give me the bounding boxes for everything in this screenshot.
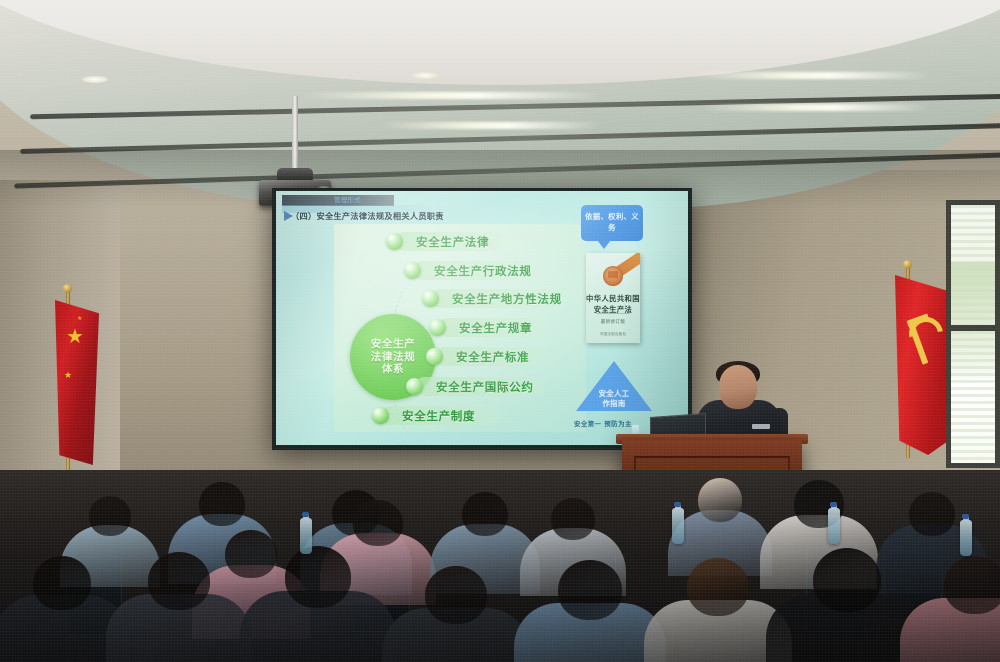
projector-mount-pole [292,96,298,174]
ceiling-light-strip [690,72,930,79]
bottle-cap [962,514,969,519]
lecture-room-scene: 管理形式 （四）安全生产法律法规及相关人员职责 安全生产 法律法规 体系 安全生… [0,0,1000,662]
slide-callout-bubble: 依据、权利、义务 [581,205,643,241]
audience-person-head [687,558,749,616]
triangle-line-1: 安全人工 [578,389,650,399]
audience-person [240,546,396,662]
flagpole-finial-left [63,284,72,293]
ceiling-light-strip [700,104,930,111]
audience-person-head [558,560,622,620]
slide-list-item: 安全生产国际公约 [406,376,534,397]
slide-list-item: 安全生产地方性法规 [422,288,562,309]
bottle-cap [302,512,309,517]
speaker-head [719,365,757,409]
flag-star-large-icon: ★ [66,326,84,346]
bullet-icon [406,378,423,395]
item-label: 安全生产地方性法规 [452,291,562,307]
audience-person [382,566,530,662]
window-blinds [951,205,995,463]
safety-law-book-image: 中华人民共和国 安全生产法 最新修订版 中国法制出版社 [586,253,640,343]
audience-person-head [33,556,91,610]
slide-triangle-label: 安全人工 作指南 [578,389,650,409]
item-label: 安全生产标准 [456,349,529,365]
audience-person [106,552,252,662]
flagpole-finial-right [903,260,912,269]
item-label: 安全生产法律 [416,234,489,250]
slide-list-item: 安全生产法律 [386,231,489,252]
audience-person-head [425,566,487,624]
triangle-line-2: 作指南 [578,399,650,409]
slide-list-item: 安全生产标准 [426,346,529,367]
bullet-icon [426,348,443,365]
center-circle-line-3: 体系 [382,363,404,376]
ceiling-light-strip [380,122,600,129]
national-emblem-icon [603,266,623,286]
book-title-line-1: 中华人民共和国 [586,293,640,304]
water-bottle [828,508,840,544]
china-national-flag: ★ ★ ★ [55,300,99,465]
bullet-icon [429,319,446,336]
bullet-icon [422,290,439,307]
item-label: 安全生产行政法规 [434,263,532,279]
speaker-shirt-logo [752,424,770,429]
audience-person-head [944,556,1000,614]
slide-list-item: 安全生产行政法规 [404,260,532,281]
window-mullion [951,325,995,331]
audience-person-head [698,478,742,522]
bullet-icon [386,233,403,250]
ceiling-downlight [82,76,108,83]
bullet-icon [372,407,389,424]
water-bottle [960,520,972,556]
book-publisher: 中国法制出版社 [586,332,640,337]
slide-header-title: （四）安全生产法律法规及相关人员职责 [291,210,444,222]
slide-top-cut-label: 管理形式 [334,194,361,204]
water-bottle [300,518,312,554]
flag-star-small-icon: ★ [64,372,72,381]
bottle-cap [830,502,837,507]
slide-content-panel: 安全生产 法律法规 体系 安全生产法律 安全生产行政法规 安全生产地方性法规 [334,224,586,432]
slide-list-item: 安全生产规章 [429,317,532,338]
item-label: 安全生产规章 [459,320,532,336]
slide-slogan: 安全第一 预防为主 [574,419,632,428]
item-label: 安全生产制度 [402,408,475,424]
ceiling-downlight [412,72,438,79]
audience-person-head [813,548,881,612]
slide-list-item: 安全生产制度 [372,405,475,426]
audience-person-head [353,500,403,546]
water-bottle [672,508,684,544]
audience-person-head [89,496,131,536]
audience-person-head [199,482,245,526]
room-window [946,200,1000,468]
item-label: 安全生产国际公约 [436,379,534,395]
book-divider [596,313,630,314]
audience-person-head [909,492,955,536]
projection-screen: 管理形式 （四）安全生产法律法规及相关人员职责 安全生产 法律法规 体系 安全生… [276,191,688,445]
audience-person-head [148,552,210,610]
center-circle-line-1: 安全生产 [371,338,415,351]
bottle-cap [674,502,681,507]
center-circle-line-2: 法律法规 [371,351,415,364]
ceiling-light-strip [300,92,600,99]
book-subtitle: 最新修订版 [586,319,640,325]
audience-person-head [285,546,351,608]
bullet-icon [404,262,421,279]
audience-person [900,556,1000,662]
audience-person-head [551,498,595,540]
flag-star-small-icon: ★ [77,316,82,322]
audience-person-head [462,492,508,536]
